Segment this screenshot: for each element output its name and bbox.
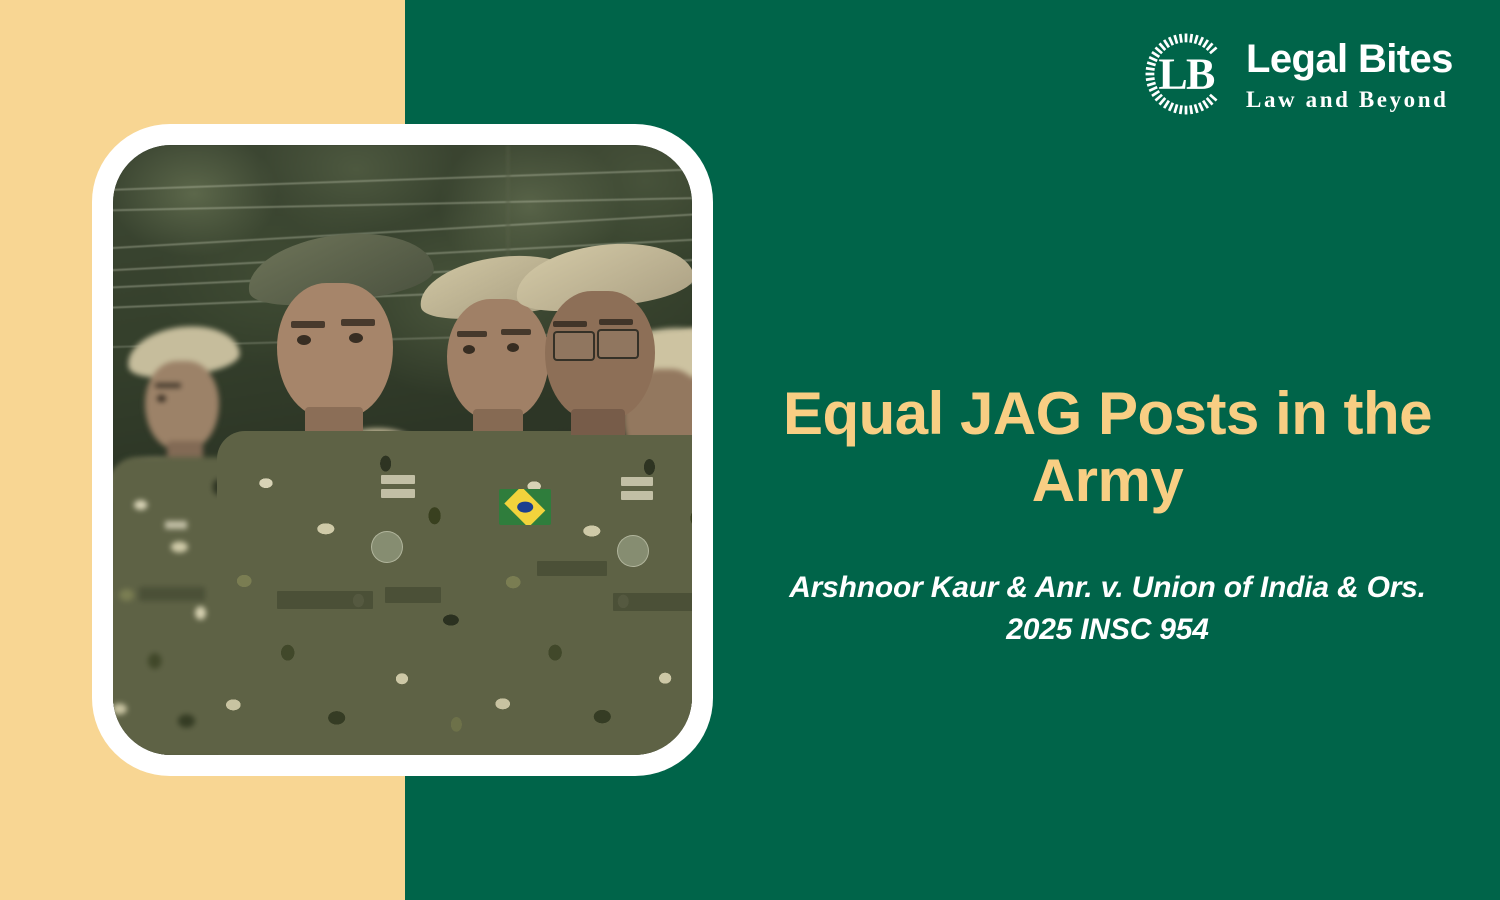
case-title: Arshnoor Kaur & Anr. v. Union of India &… <box>789 571 1426 604</box>
soldiers-photo <box>113 145 692 755</box>
photo-card <box>92 124 713 776</box>
logo-wordmark: Legal Bites Law and Beyond <box>1246 37 1453 111</box>
soldiers-group <box>113 145 692 755</box>
case-citation: Arshnoor Kaur & Anr. v. Union of India &… <box>745 567 1470 650</box>
banner-graphic: Equal JAG Posts in the Army Arshnoor Kau… <box>0 0 1500 900</box>
brand-logo: LB Legal Bites Law and Beyond <box>1142 30 1453 118</box>
soldier-right-with-glasses <box>505 245 692 755</box>
legal-bites-sunburst-monogram-icon: LB <box>1142 30 1230 118</box>
brand-name: Legal Bites <box>1246 39 1453 79</box>
page-title: Equal JAG Posts in the Army <box>745 380 1470 514</box>
text-block: Equal JAG Posts in the Army Arshnoor Kau… <box>745 380 1470 650</box>
svg-text:LB: LB <box>1158 50 1215 99</box>
brand-tagline: Law and Beyond <box>1246 88 1453 111</box>
soldier-foreground-green-beret <box>233 235 473 755</box>
case-reference: 2025 INSC 954 <box>1006 613 1209 646</box>
